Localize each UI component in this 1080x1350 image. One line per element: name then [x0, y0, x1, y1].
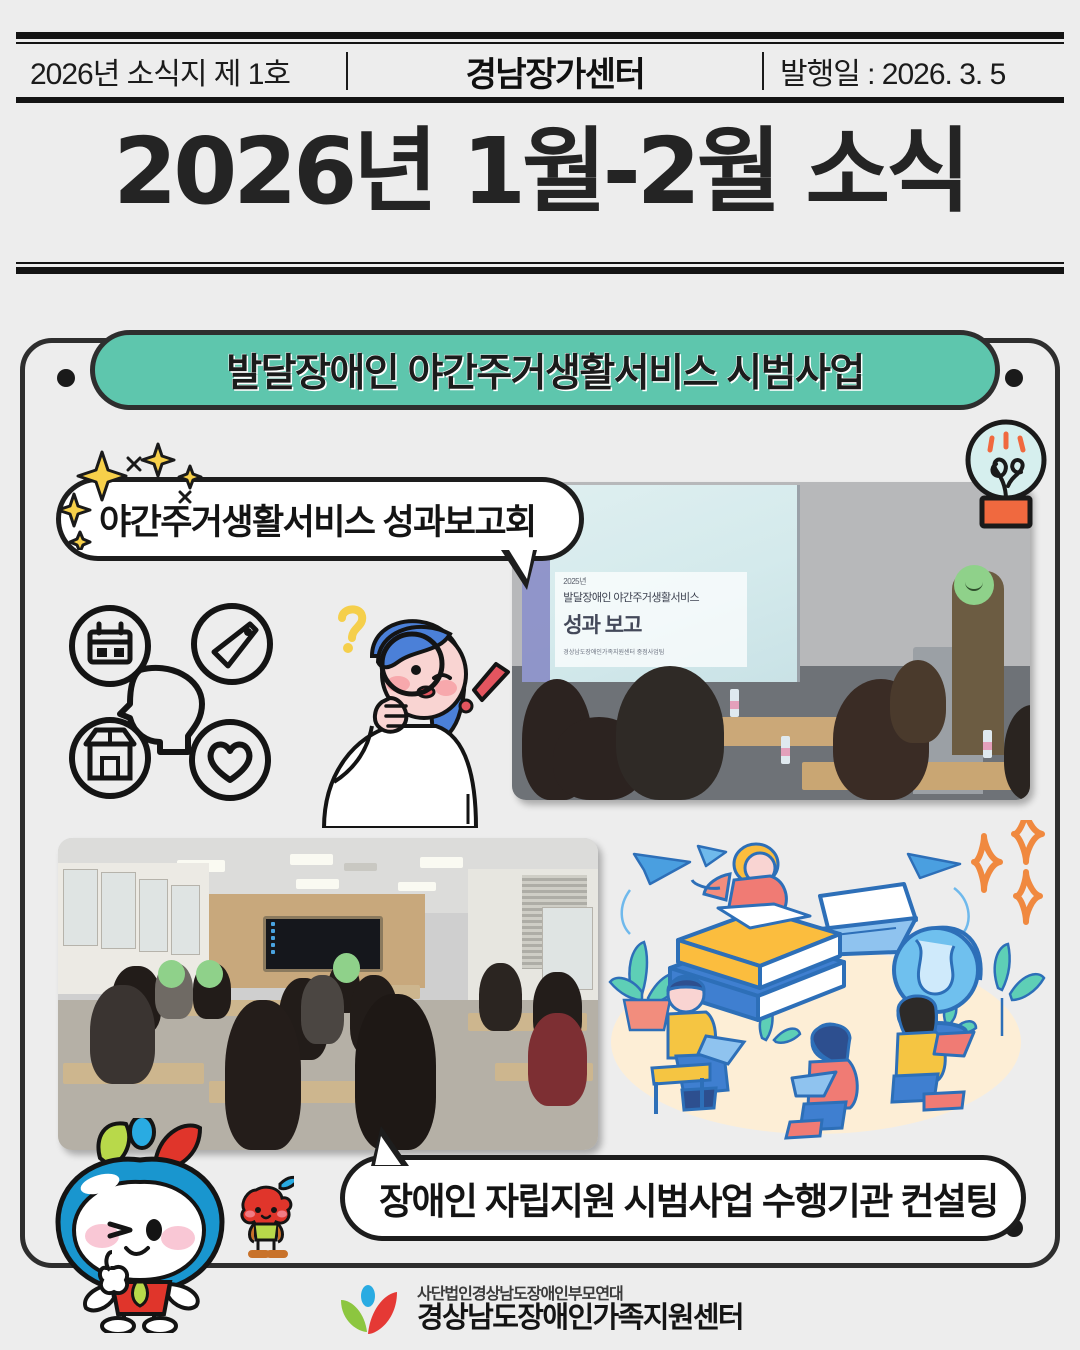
- thinking-person-illustration: [316, 596, 516, 828]
- speech-bubble-tail-icon: [371, 1126, 409, 1166]
- leaf-logo-icon: [337, 1282, 401, 1338]
- blurred-face-icon: [954, 565, 994, 605]
- lightbulb-icon: [952, 414, 1060, 534]
- heart-icon: [192, 722, 268, 798]
- store-icon: [72, 720, 148, 796]
- question-mark-icon: [342, 609, 362, 653]
- header-row: 2026년 소식지 제 1호 경남장가센터 발행일 : 2026. 3. 5: [16, 44, 1064, 98]
- newsletter-poster: 2026년 소식지 제 1호 경남장가센터 발행일 : 2026. 3. 5 2…: [0, 0, 1080, 1350]
- footer-org-main: 경상남도장애인가족지원센터: [417, 1302, 743, 1334]
- presentation-slide: 2025년 발달장애인 야간주거생활서비스 성과 보고 경상남도장애인가족지원센…: [555, 572, 747, 667]
- tag-icon: [194, 606, 270, 682]
- organization-name: 경남장가센터: [348, 47, 762, 96]
- sparkles-icon: [952, 820, 1064, 940]
- speech-bubble-bottom: 장애인 자립지원 시범사업 수행기관 컨설팅: [340, 1155, 1026, 1241]
- header-mid-rule: [16, 97, 1064, 103]
- slide-line2: 성과 보고: [563, 609, 739, 639]
- footer-org-sub: 사단법인경상남도장애인부모연대: [417, 1286, 623, 1303]
- screw-icon-top-left: [57, 369, 75, 387]
- small-red-mascot-icon: [242, 1177, 294, 1254]
- calendar-icon: [72, 608, 148, 684]
- speech-bubble-tail-icon: [501, 550, 537, 590]
- footer-logo-text: 사단법인경상남도장애인부모연대 경상남도장애인가족지원센터: [417, 1286, 743, 1335]
- speech-bubble-bottom-label: 장애인 자립지원 시범사업 수행기관 컨설팅: [379, 1171, 998, 1225]
- publish-date-label: 발행일 : 2026. 3. 5: [764, 49, 1064, 93]
- section-banner-label: 발달장애인 야간주거생활서비스 시범사업: [226, 342, 864, 398]
- classroom-photo: [58, 838, 598, 1150]
- issue-label: 2026년 소식지 제 1호: [16, 49, 346, 93]
- slide-line1: 발달장애인 야간주거생활서비스: [563, 589, 739, 605]
- icon-group: [62, 600, 332, 815]
- screw-icon-top-right: [1005, 369, 1023, 387]
- section-banner: 발달장애인 야간주거생활서비스 시범사업: [90, 330, 1000, 410]
- blue-apple-mascot-icon: [58, 1118, 222, 1333]
- apple-mascot-illustration: [44, 1118, 294, 1333]
- slide-year: 2025년: [563, 576, 739, 587]
- header-top-rule: [16, 32, 1064, 42]
- page-title: 2026년 1월-2월 소식: [0, 124, 1080, 221]
- header-bottom-rule: [16, 262, 1064, 274]
- star-sparkle-icon: [58, 440, 258, 550]
- paper-plane-icon: [634, 846, 960, 884]
- plant-icon: [995, 944, 1044, 1036]
- slide-line3: 경상남도장애인가족지원센터 중점사업팀: [563, 649, 739, 657]
